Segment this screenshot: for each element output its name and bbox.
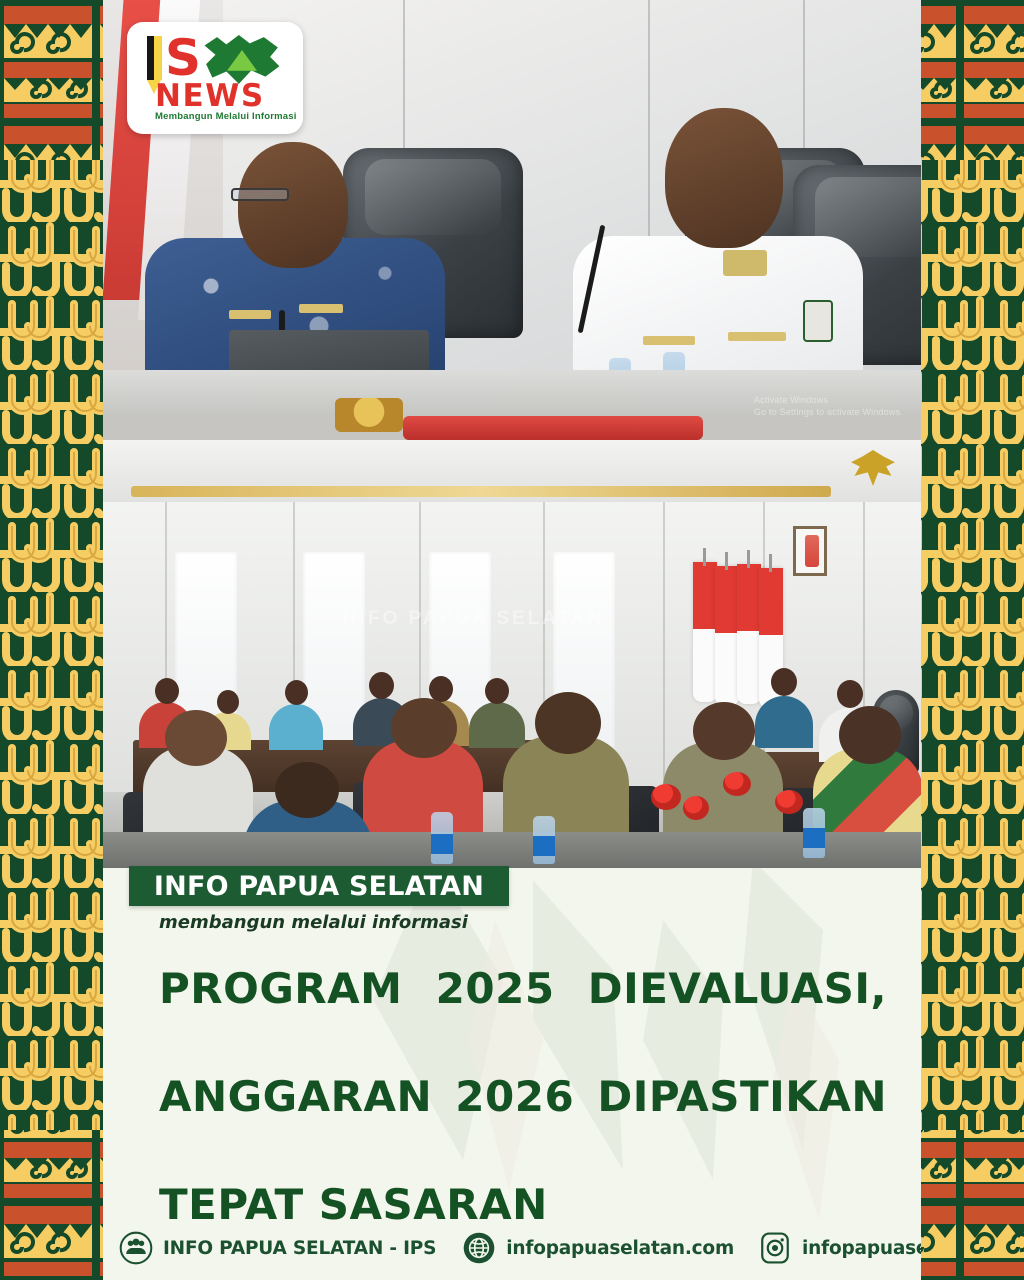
instagram-icon: [758, 1231, 792, 1265]
photo-bottom-meeting-room: INFO PAPUA SELATAN: [103, 440, 921, 868]
photo2-attendee: [755, 696, 813, 748]
footer-social-bar: INFO PAPUA SELATAN - IPS infopapuaselata…: [103, 1216, 921, 1280]
poster: Activate Windows Go to Settings to activ…: [0, 0, 1024, 1280]
photo1-red-cloth: [403, 416, 703, 440]
footer-facebook-group[interactable]: INFO PAPUA SELATAN - IPS: [119, 1231, 436, 1265]
photo2-flower-decor: [775, 790, 803, 814]
photo1-ornament: [335, 398, 403, 432]
ips-news-logo: S NEWS Membangun Melalui Informasi: [127, 22, 303, 134]
logo-word: NEWS: [155, 78, 265, 114]
tagline-subtitle: membangun melalui informasi: [159, 912, 659, 933]
photo2-flower-decor: [723, 772, 751, 796]
photo2-watermark: INFO PAPUA SELATAN: [343, 608, 604, 630]
logo-initial: S: [165, 34, 201, 82]
photo2-ceiling-cove: [131, 486, 831, 497]
headline-line-2: ANGGARAN 2026 DIPASTIKAN: [159, 1070, 887, 1178]
photo2-flower-decor: [651, 784, 681, 810]
logo-tagline: Membangun Melalui Informasi: [155, 111, 297, 122]
photo2-flower-decor: [683, 796, 709, 820]
photo2-attendee: [269, 704, 323, 750]
footer-facebook-label: INFO PAPUA SELATAN - IPS: [163, 1238, 436, 1259]
activate-windows-watermark: Activate Windows Go to Settings to activ…: [754, 394, 903, 418]
photo2-foreground-table: [103, 832, 921, 868]
headline: PROGRAM 2025 DIEVALUASI, ANGGARAN 2026 D…: [159, 962, 887, 1232]
pen-shadow-icon: [147, 36, 154, 80]
footer-instagram-label: infopapuaselatan_ips: [802, 1238, 921, 1259]
globe-icon: [462, 1231, 496, 1265]
footer-instagram[interactable]: infopapuaselatan_ips: [758, 1231, 921, 1265]
footer-website[interactable]: infopapuaselatan.com: [462, 1231, 734, 1265]
headline-line-1: PROGRAM 2025 DIEVALUASI,: [159, 962, 887, 1070]
photo2-water-bottle: [803, 808, 825, 858]
content-panel: Activate Windows Go to Settings to activ…: [103, 0, 921, 1280]
photo2-water-bottle: [431, 812, 453, 864]
photo2-water-bottle: [533, 816, 555, 864]
band-title: INFO PAPUA SELATAN: [154, 871, 484, 902]
info-papua-selatan-band: INFO PAPUA SELATAN: [129, 866, 509, 906]
facebook-group-icon: [119, 1231, 153, 1265]
footer-website-label: infopapuaselatan.com: [506, 1238, 734, 1259]
